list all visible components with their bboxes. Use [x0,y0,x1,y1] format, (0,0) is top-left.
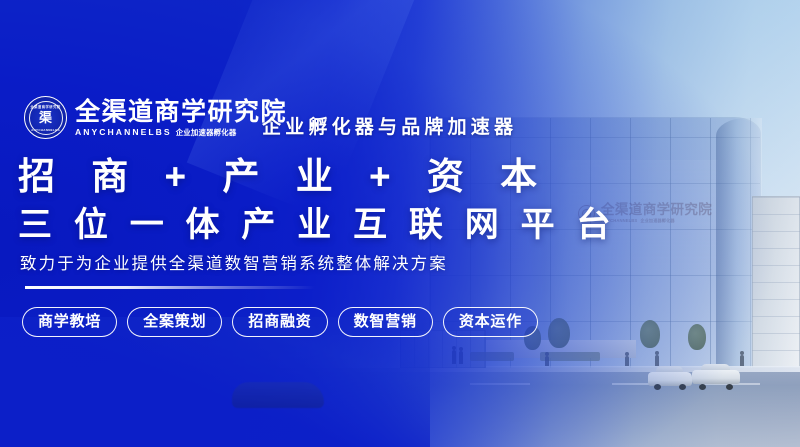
service-tag-investment-financing[interactable]: 招商融资 [232,307,327,337]
service-tag-capital-operation[interactable]: 资本运作 [443,307,538,337]
headline-subline: 致力于为企业提供全渠道数智营销系统整体解决方案 [20,256,448,273]
logo-text-block: 全渠道商学研究院 ANYCHANNELBS 企业加速器孵化器 [75,99,287,137]
seal-arc-bottom-text: ANYCHANNELBS [25,128,66,132]
service-tag-full-case-planning[interactable]: 全案策划 [127,307,222,337]
seal-arc-top-text: 全渠道商学研究院 [25,104,66,109]
brand-logo[interactable]: 全渠道商学研究院 渠 ANYCHANNELBS 全渠道商学研究院 ANYCHAN… [24,96,287,139]
service-tag-digital-marketing[interactable]: 数智营销 [338,307,433,337]
logo-en-text: ANYCHANNELBS [75,128,172,137]
headline-line-2: 三 位 一 体 产 业 互 联 网 平 台 [18,208,617,242]
seal-emblem-icon: 全渠道商学研究院 渠 ANYCHANNELBS [24,96,67,139]
service-tag-list: 商学教培 全案策划 招商融资 数智营销 资本运作 [22,307,538,337]
headline-line-1: 招 商 + 产 业 + 资 本 [18,158,550,195]
brand-tagline: 企业孵化器与品牌加速器 [262,112,517,139]
banner-content: 全渠道商学研究院 渠 ANYCHANNELBS 全渠道商学研究院 ANYCHAN… [0,0,800,447]
seal-center-glyph: 渠 [37,109,54,126]
logo-en-chinese-suffix: 企业加速器孵化器 [176,129,237,136]
logo-chinese-name: 全渠道商学研究院 [75,99,287,125]
logo-english-name: ANYCHANNELBS 企业加速器孵化器 [75,128,287,137]
promo-banner: 全渠道商学研究院 ANYCHANNELBS企业加速器孵化器 [0,0,800,447]
divider-line [25,286,315,289]
service-tag-business-education[interactable]: 商学教培 [22,307,117,337]
